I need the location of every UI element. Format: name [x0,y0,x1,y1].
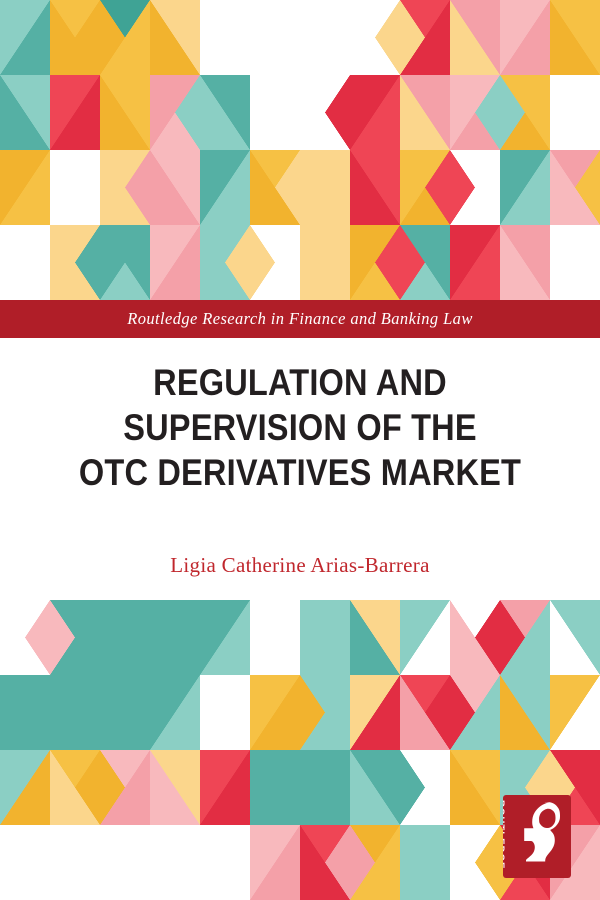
title-panel: REGULATION AND SUPERVISION OF THE OTC DE… [0,338,600,600]
book-title: REGULATION AND SUPERVISION OF THE OTC DE… [0,360,600,495]
routledge-wordmark: ROUTLEDGE [503,800,506,873]
top-pattern-svg [0,0,600,300]
title-line-3: OTC DERIVATIVES MARKET [36,450,564,495]
routledge-logo: ROUTLEDGE [503,795,571,878]
title-line-2: SUPERVISION OF THE [36,405,564,450]
title-line-1: REGULATION AND [36,360,564,405]
series-band: Routledge Research in Finance and Bankin… [0,300,600,338]
book-cover: Routledge Research in Finance and Bankin… [0,0,600,900]
author-byline: Ligia Catherine Arias-Barrera [0,553,600,578]
routledge-logo-icon [519,801,563,871]
top-pattern-band [0,0,600,300]
author-name: Ligia Catherine Arias-Barrera [170,553,429,577]
series-title: Routledge Research in Finance and Bankin… [127,309,473,329]
